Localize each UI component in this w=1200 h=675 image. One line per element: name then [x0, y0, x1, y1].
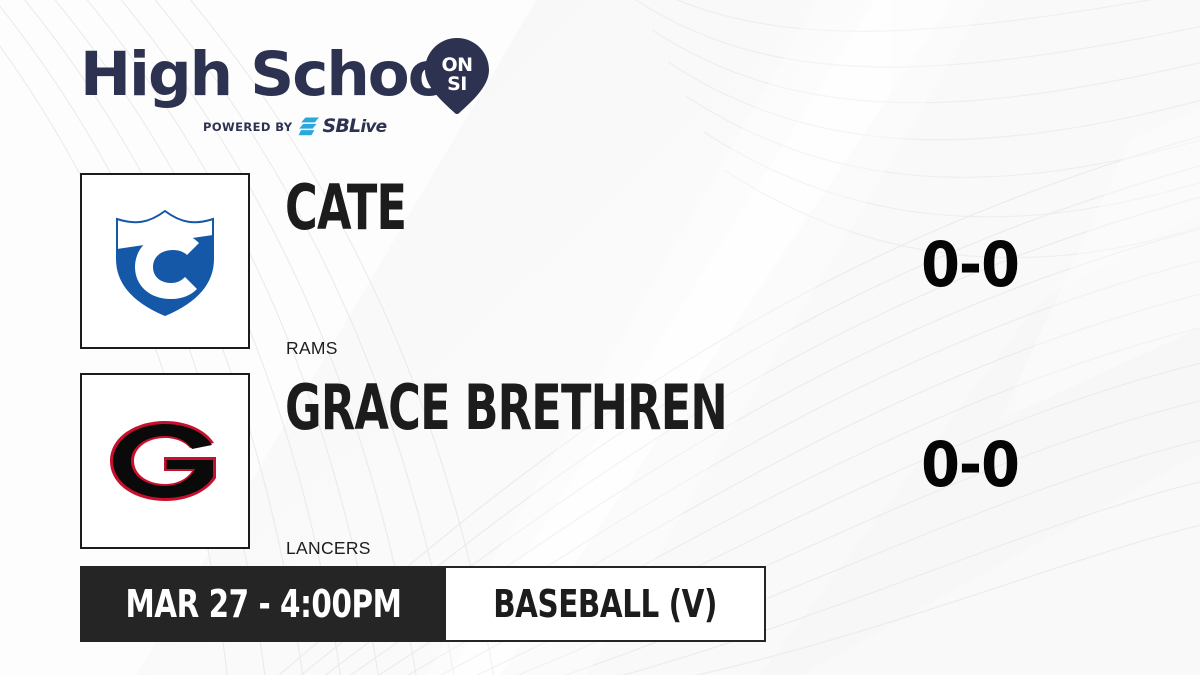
game-sport-block: BASEBALL (V)	[446, 566, 766, 642]
svg-text:SI: SI	[447, 73, 467, 95]
sblive-wordmark: SBLive	[322, 117, 386, 136]
team-row: GRACE BRETHREN LANCERS 0-0	[0, 373, 1200, 549]
team-row: CATE RAMS 0-0	[0, 173, 1200, 349]
sblive-lower: ive	[360, 117, 386, 137]
map-pin-icon: ON SI	[425, 38, 489, 114]
sblive-upper: SBL	[322, 115, 360, 137]
team-record: 0-0	[860, 234, 1080, 296]
sblive-s-mark-icon	[298, 117, 320, 136]
game-sport-level: BASEBALL (V)	[493, 582, 717, 626]
team-logo-box	[80, 173, 250, 349]
cate-shield-logo	[113, 205, 217, 317]
team-record: 0-0	[860, 434, 1080, 496]
game-info-bar: MAR 27 - 4:00PM BASEBALL (V)	[80, 566, 766, 642]
game-date-time: MAR 27 - 4:00PM	[125, 582, 401, 626]
team-name: CATE	[285, 177, 406, 239]
team-logo-box	[80, 373, 250, 549]
team-mascot: RAMS	[286, 338, 338, 359]
powered-by-label: POWERED BY	[203, 120, 292, 134]
team-mascot: LANCERS	[286, 538, 371, 559]
sblive-logo: SBLive	[298, 117, 386, 136]
grace-brethren-g-logo	[108, 419, 222, 503]
team-name: GRACE BRETHREN	[285, 377, 727, 439]
powered-by-lockup: POWERED BY SBLive	[203, 117, 386, 136]
game-date-block: MAR 27 - 4:00PM	[80, 566, 446, 642]
brand-lockup: High School ON SI POWERED BY SBLive	[80, 38, 510, 130]
brand-wordmark: High School	[80, 44, 467, 105]
